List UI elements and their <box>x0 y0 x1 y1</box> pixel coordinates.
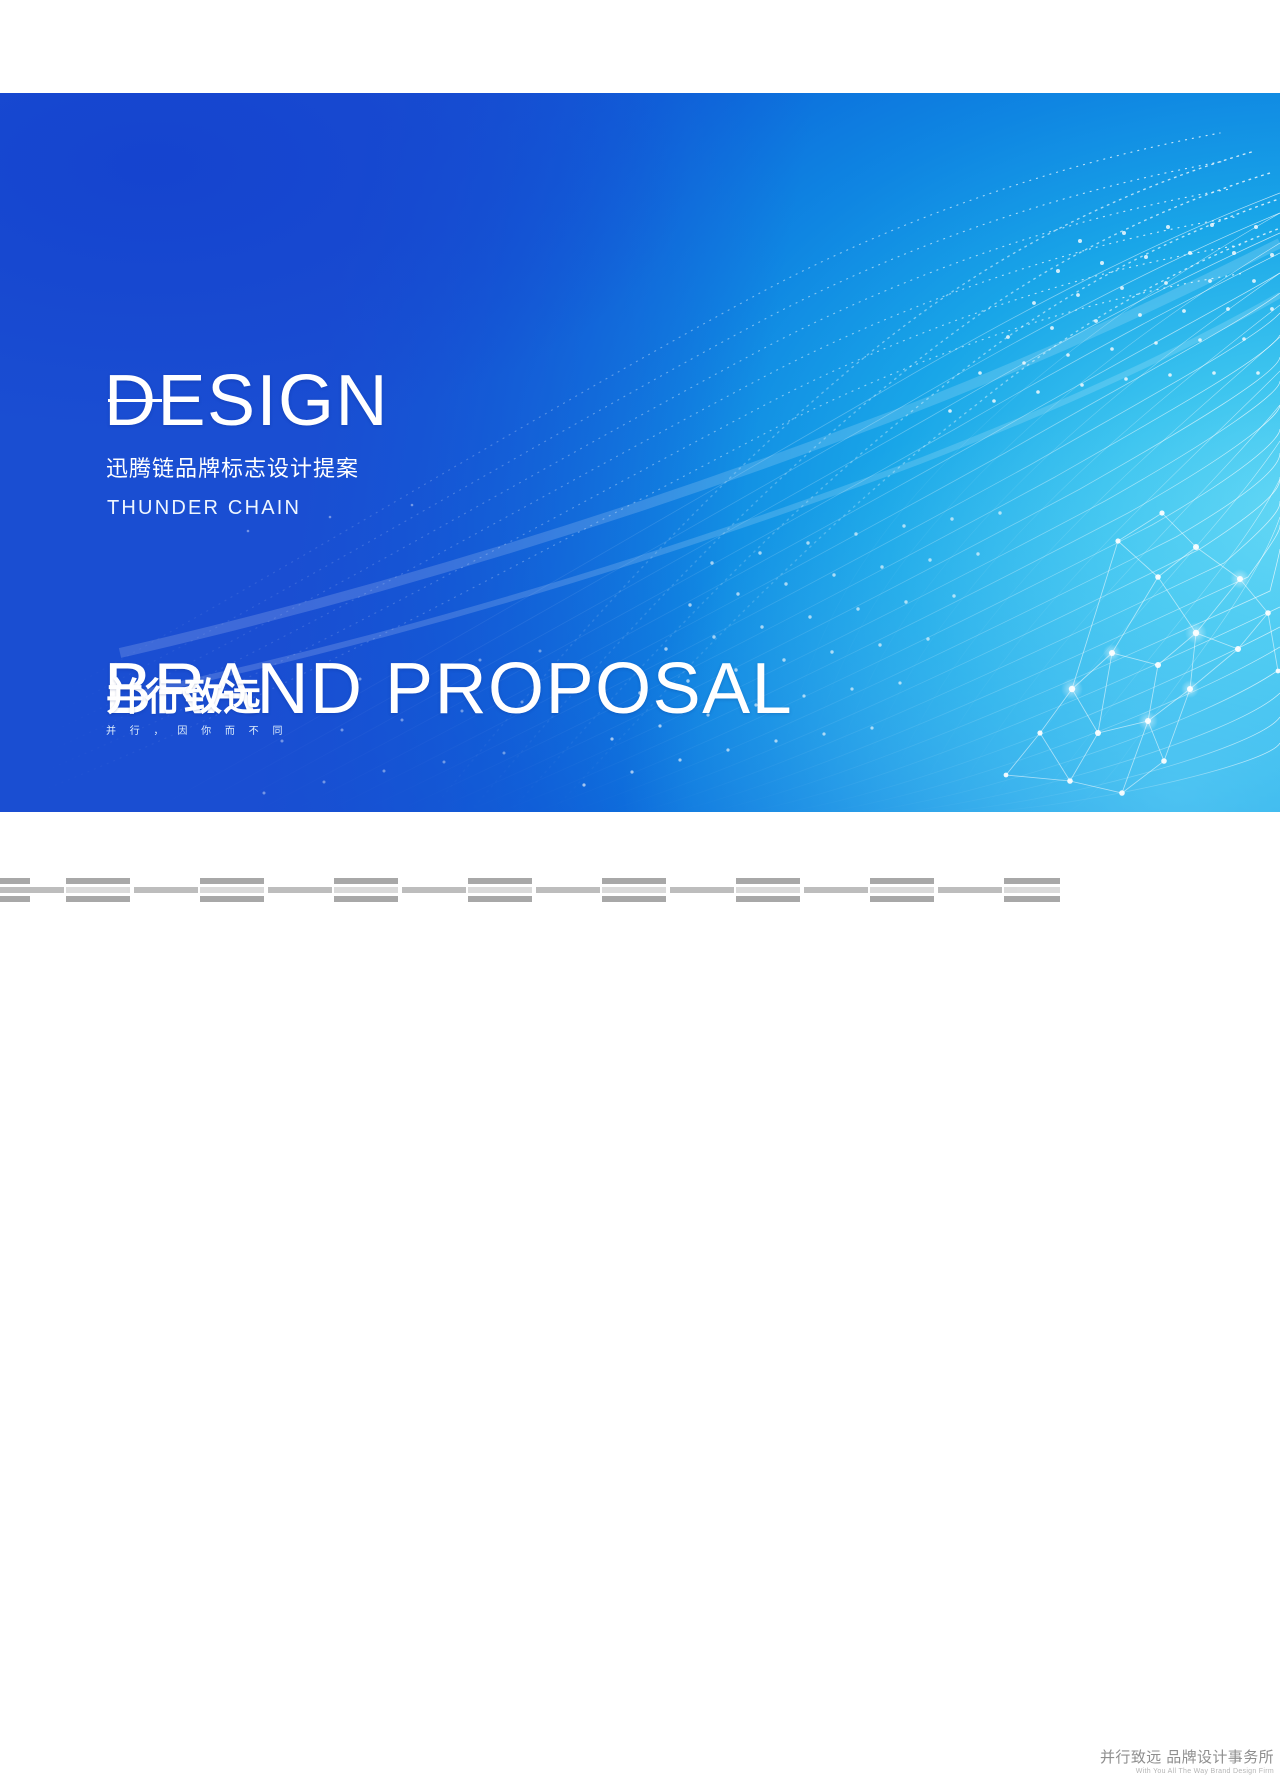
title-slide: DESIGN BRAND PROPOSAL 迅腾链品牌标志设计提案 THUNDE… <box>0 93 1280 812</box>
brand-logo: 并行致远 并 行 ， 因 你 而 不 同 <box>106 676 306 738</box>
subtitle-english: THUNDER CHAIN <box>107 495 301 521</box>
subtitle-chinese: 迅腾链品牌标志设计提案 <box>106 455 359 483</box>
title-divider-rule <box>108 399 162 402</box>
footer-brand-lockup: 并行致远 品牌设计事务所 With You All The Way Brand … <box>1074 1749 1274 1777</box>
footer-brand-name-cn: 并行致远 品牌设计事务所 <box>1074 1749 1274 1767</box>
headline-line-1: DESIGN <box>104 353 793 449</box>
footer-brand-name-en: With You All The Way Brand Design Firm <box>1074 1767 1274 1777</box>
logo-wordmark: 并行致远 <box>106 676 306 720</box>
footer-decoration-strip: 并行致远 品牌设计事务所 With You All The Way Brand … <box>0 876 1280 903</box>
logo-tagline: 并 行 ， 因 你 而 不 同 <box>106 725 306 738</box>
dashed-pattern-graphic <box>0 876 1060 903</box>
